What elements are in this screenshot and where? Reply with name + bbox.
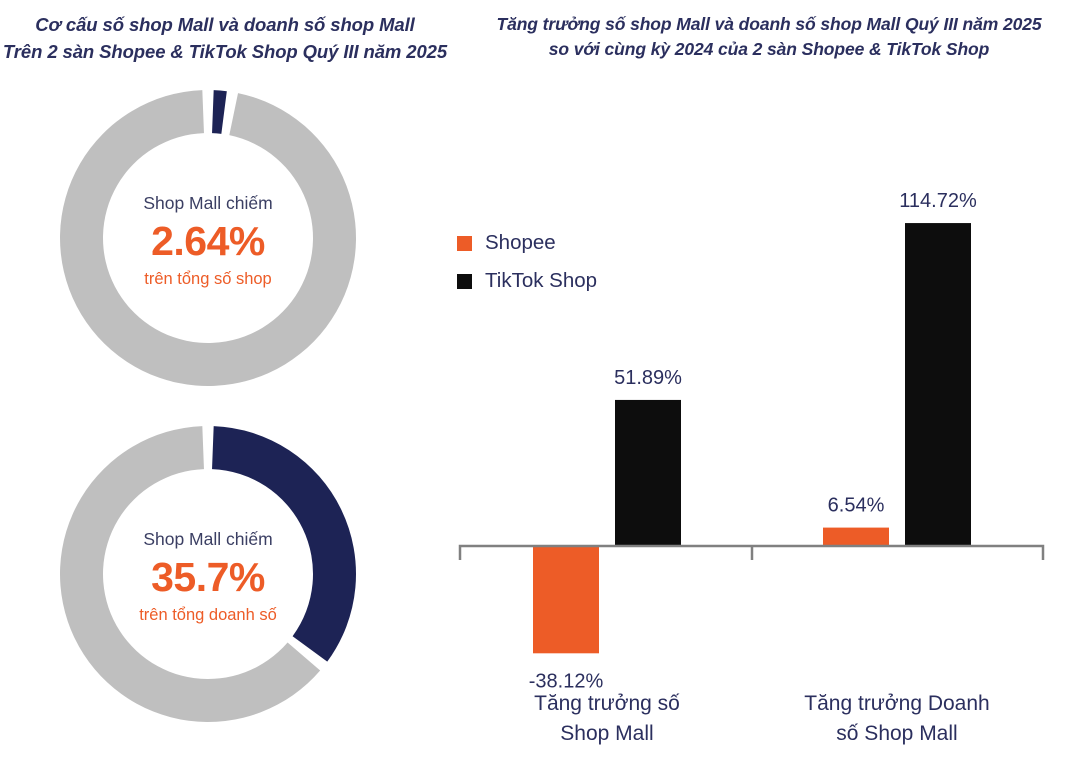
left-title-line-1: Cơ cấu số shop Mall và doanh số shop Mal… xyxy=(0,12,450,39)
donut-chart-shop-count: Shop Mall chiếm 2.64% trên tổng số shop xyxy=(56,88,360,398)
donut-2-heading: Shop Mall chiếm xyxy=(56,528,360,551)
bar-chart-bars xyxy=(533,223,971,653)
legend-swatch-tiktok-shop xyxy=(457,274,472,289)
legend-swatch-shopee xyxy=(457,236,472,251)
legend-item-shopee[interactable]: Shopee xyxy=(457,224,597,262)
donut-2-value: 35.7% xyxy=(56,554,360,601)
category-label-1-line-1: số Shop Mall xyxy=(836,722,957,745)
bar-shopee-1 xyxy=(823,528,889,546)
donut-chart-revenue: Shop Mall chiếm 35.7% trên tổng doanh số xyxy=(56,424,360,734)
bar-chart-category-labels: Tăng trưởng sốShop MallTăng trưởng Doanh… xyxy=(534,692,990,745)
legend-label-shopee: Shopee xyxy=(485,233,556,254)
category-label-1-line-0: Tăng trưởng Doanh xyxy=(804,692,989,715)
right-title-line-2: so với cùng kỳ 2024 của 2 sàn Shopee & T… xyxy=(452,37,1086,62)
bar-tiktok-shop-1 xyxy=(905,223,971,546)
value-label-tiktok-shop-1: 114.72% xyxy=(899,190,977,212)
category-label-0-line-0: Tăng trưởng số xyxy=(534,692,680,715)
donut-1-heading: Shop Mall chiếm xyxy=(56,192,360,215)
value-label-tiktok-shop-0: 51.89% xyxy=(614,367,682,389)
bar-tiktok-shop-0 xyxy=(615,400,681,546)
donut-1-value: 2.64% xyxy=(56,218,360,265)
bar-chart-legend: Shopee TikTok Shop xyxy=(457,224,597,300)
category-label-0-line-1: Shop Mall xyxy=(560,722,653,745)
legend-label-tiktok-shop: TikTok Shop xyxy=(485,271,597,292)
bar-chart-svg: -38.12%51.89%6.54%114.72% Tăng trưởng số… xyxy=(440,80,1086,767)
donut-1-share-segment xyxy=(212,90,227,134)
legend-item-tiktok-shop[interactable]: TikTok Shop xyxy=(457,262,597,300)
donut-1-center-text: Shop Mall chiếm 2.64% trên tổng số shop xyxy=(56,192,360,290)
right-title-line-1: Tăng trưởng số shop Mall và doanh số sho… xyxy=(452,12,1086,37)
right-panel-title: Tăng trưởng số shop Mall và doanh số sho… xyxy=(452,12,1086,63)
value-label-shopee-1: 6.54% xyxy=(828,495,885,517)
donut-2-center-text: Shop Mall chiếm 35.7% trên tổng doanh số xyxy=(56,528,360,626)
value-label-shopee-0: -38.12% xyxy=(529,670,604,692)
donut-2-subtext: trên tổng doanh số xyxy=(56,605,360,626)
donut-1-subtext: trên tổng số shop xyxy=(56,269,360,290)
left-panel-title: Cơ cấu số shop Mall và doanh số shop Mal… xyxy=(0,12,450,66)
bar-chart-panel: -38.12%51.89%6.54%114.72% Tăng trưởng số… xyxy=(440,80,1086,767)
left-title-line-2: Trên 2 sàn Shopee & TikTok Shop Quý III … xyxy=(0,39,450,66)
bar-shopee-0 xyxy=(533,546,599,653)
